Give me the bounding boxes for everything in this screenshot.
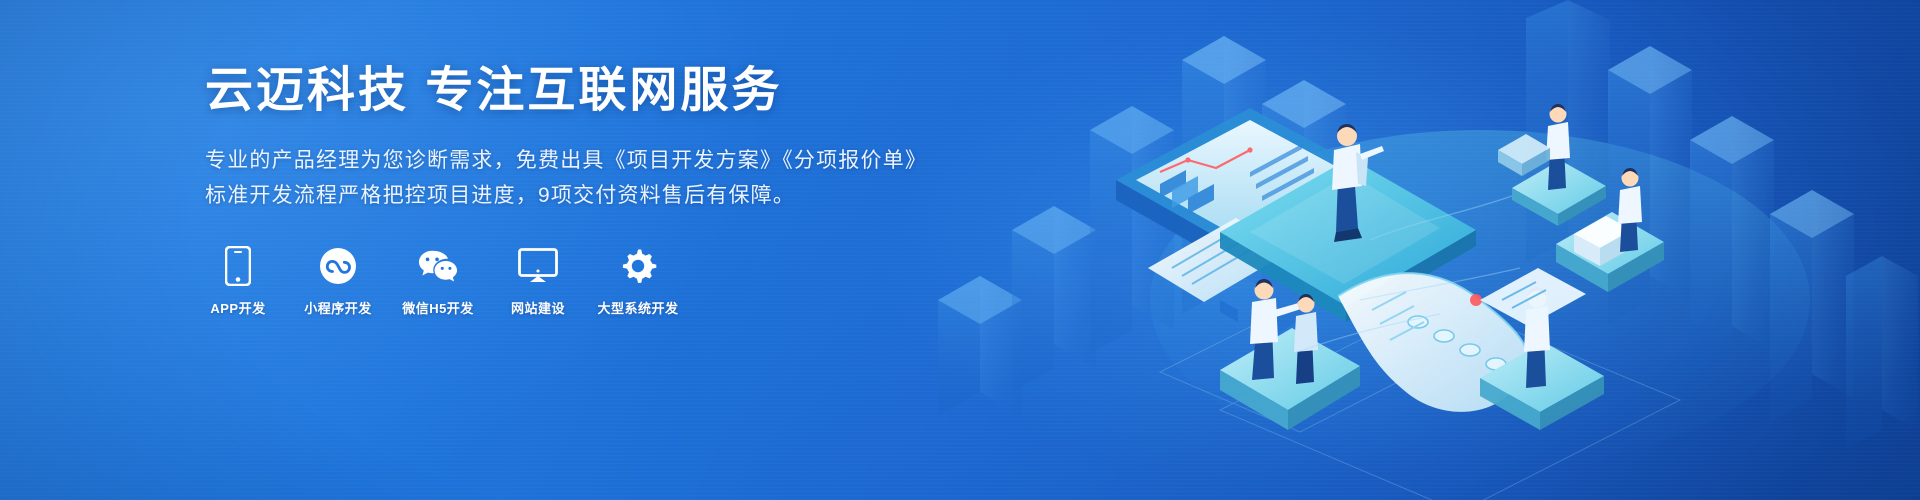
mobile-phone-icon xyxy=(218,245,258,287)
service-list: APP开发 小程序开发 xyxy=(205,245,1105,317)
service-item-large-system[interactable]: 大型系统开发 xyxy=(605,245,671,317)
gear-icon xyxy=(618,245,658,287)
monitor-icon xyxy=(518,245,558,287)
service-item-wechat-h5[interactable]: 微信H5开发 xyxy=(405,245,471,317)
mini-program-icon xyxy=(318,245,358,287)
service-item-mini-program[interactable]: 小程序开发 xyxy=(305,245,371,317)
subtitle-line-2: 标准开发流程严格把控项目进度，9项交付资料售后有保障。 xyxy=(205,178,1105,213)
banner-content: 云迈科技 专注互联网服务 专业的产品经理为您诊断需求，免费出具《项目开发方案》《… xyxy=(205,62,1105,317)
hero-banner: 云迈科技 专注互联网服务 专业的产品经理为您诊断需求，免费出具《项目开发方案》《… xyxy=(0,0,1920,500)
service-item-website[interactable]: 网站建设 xyxy=(505,245,571,317)
wechat-icon xyxy=(418,245,458,287)
page-title: 云迈科技 专注互联网服务 xyxy=(205,62,1105,121)
service-label: 网站建设 xyxy=(511,298,565,317)
service-label: APP开发 xyxy=(210,298,265,317)
service-label: 小程序开发 xyxy=(304,298,372,317)
service-label: 微信H5开发 xyxy=(402,298,474,317)
service-label: 大型系统开发 xyxy=(598,298,679,317)
subtitle-line-1: 专业的产品经理为您诊断需求，免费出具《项目开发方案》《分项报价单》 xyxy=(205,143,1105,178)
service-item-app[interactable]: APP开发 xyxy=(205,245,271,317)
